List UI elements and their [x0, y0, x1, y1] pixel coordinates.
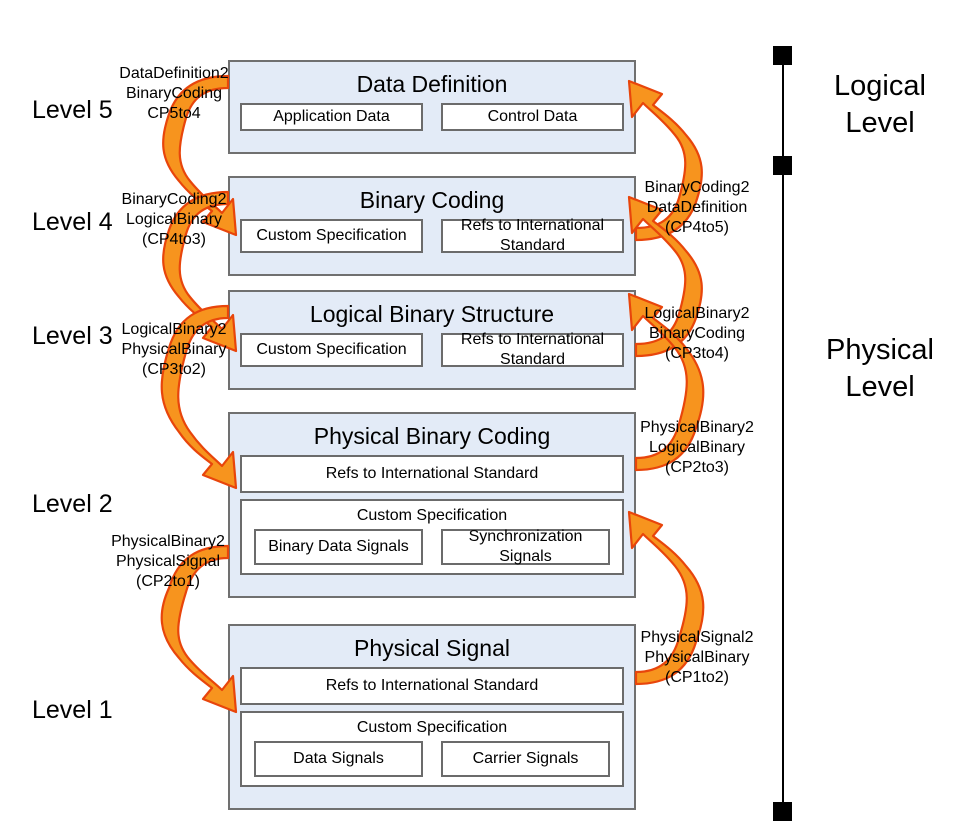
level1-carrier-signals-text: Carrier Signals	[473, 749, 579, 769]
cp2to3-line1: PhysicalBinary2	[632, 418, 762, 438]
level2-binary-data-signals-text: Binary Data Signals	[268, 537, 409, 557]
level-label-2: Level 2	[32, 490, 113, 519]
bracket-marker-top	[773, 46, 792, 65]
level3-title: Logical Binary Structure	[230, 292, 634, 333]
level-label-4: Level 4	[32, 208, 113, 237]
bracket-label-logical-level: Logical Level	[810, 68, 950, 142]
level3-child-refs-to-international-standard[interactable]: Refs to International Standard	[441, 333, 624, 367]
connector-label-cp2to1: PhysicalBinary2 PhysicalSignal (CP2to1)	[100, 532, 236, 592]
level1-child-carrier-signals[interactable]: Carrier Signals	[441, 741, 610, 777]
connector-label-cp5to4: DataDefinition2 BinaryCoding CP5to4	[110, 64, 238, 124]
level5-box[interactable]: Data Definition Application Data Control…	[228, 60, 636, 154]
cp1to2-line3: (CP1to2)	[632, 668, 762, 688]
cp4to3-line2: LogicalBinary	[110, 210, 238, 230]
level2-box[interactable]: Physical Binary Coding Refs to Internati…	[228, 412, 636, 598]
connector-label-cp3to2: LogicalBinary2 PhysicalBinary (CP3to2)	[110, 320, 238, 380]
cp5to4-line2: BinaryCoding	[110, 84, 238, 104]
level2-child-binary-data-signals[interactable]: Binary Data Signals	[254, 529, 423, 565]
diagram-canvas: .arw{fill:#F7941E;stroke:#E8450B;stroke-…	[0, 0, 960, 832]
cp5to4-line3: CP5to4	[110, 104, 238, 124]
level-label-1: Level 1	[32, 696, 113, 725]
cp3to4-line1: LogicalBinary2	[632, 304, 762, 324]
bracket-marker-middle	[773, 156, 792, 175]
level1-box[interactable]: Physical Signal Refs to International St…	[228, 624, 636, 810]
level1-data-signals-text: Data Signals	[293, 749, 384, 769]
level2-custom-spec-title: Custom Specification	[242, 505, 622, 529]
cp4to5-line2: DataDefinition	[632, 198, 762, 218]
level4-custom-spec-text: Custom Specification	[256, 226, 406, 246]
cp2to3-line2: LogicalBinary	[632, 438, 762, 458]
cp3to4-line2: BinaryCoding	[632, 324, 762, 344]
cp3to2-line3: (CP3to2)	[110, 360, 238, 380]
level-label-5: Level 5	[32, 96, 113, 125]
connector-label-cp2to3: PhysicalBinary2 LogicalBinary (CP2to3)	[632, 418, 762, 478]
level1-refs-to-international-standard[interactable]: Refs to International Standard	[240, 667, 624, 705]
cp5to4-line1: DataDefinition2	[110, 64, 238, 84]
level3-child-custom-specification[interactable]: Custom Specification	[240, 333, 423, 367]
level4-child-custom-specification[interactable]: Custom Specification	[240, 219, 423, 253]
cp1to2-line1: PhysicalSignal2	[632, 628, 762, 648]
connector-label-cp4to3: BinaryCoding2 LogicalBinary (CP4to3)	[110, 190, 238, 250]
cp2to3-line3: (CP2to3)	[632, 458, 762, 478]
level5-title: Data Definition	[230, 62, 634, 103]
bracket-physical-line2: Level	[810, 369, 950, 406]
bracket-label-physical-level: Physical Level	[810, 332, 950, 406]
level5-child-control-data[interactable]: Control Data	[441, 103, 624, 131]
level2-title: Physical Binary Coding	[230, 414, 634, 455]
level1-title: Physical Signal	[230, 626, 634, 667]
cp1to2-line2: PhysicalBinary	[632, 648, 762, 668]
cp2to1-line2: PhysicalSignal	[100, 552, 236, 572]
cp4to5-line3: (CP4to5)	[632, 218, 762, 238]
cp3to2-line1: LogicalBinary2	[110, 320, 238, 340]
level4-box[interactable]: Binary Coding Custom Specification Refs …	[228, 176, 636, 276]
cp4to3-line1: BinaryCoding2	[110, 190, 238, 210]
cp2to1-line1: PhysicalBinary2	[100, 532, 236, 552]
level3-refs-text: Refs to International Standard	[443, 330, 622, 370]
level2-child-synchronization-signals[interactable]: Synchronization Signals	[441, 529, 610, 565]
level2-custom-specification-group[interactable]: Custom Specification Binary Data Signals…	[240, 499, 624, 575]
level3-box[interactable]: Logical Binary Structure Custom Specific…	[228, 290, 636, 390]
level2-refs-to-international-standard[interactable]: Refs to International Standard	[240, 455, 624, 493]
cp3to2-line2: PhysicalBinary	[110, 340, 238, 360]
cp2to1-line3: (CP2to1)	[100, 572, 236, 592]
bracket-marker-bottom	[773, 802, 792, 821]
level4-refs-text: Refs to International Standard	[443, 216, 622, 256]
connector-label-cp4to5: BinaryCoding2 DataDefinition (CP4to5)	[632, 178, 762, 238]
level1-child-data-signals[interactable]: Data Signals	[254, 741, 423, 777]
level-label-3: Level 3	[32, 322, 113, 351]
cp4to5-line1: BinaryCoding2	[632, 178, 762, 198]
bracket-logical-line2: Level	[810, 105, 950, 142]
level4-title: Binary Coding	[230, 178, 634, 219]
level1-custom-spec-title: Custom Specification	[242, 717, 622, 741]
level2-synchronization-signals-text: Synchronization Signals	[443, 527, 608, 567]
level1-custom-specification-group[interactable]: Custom Specification Data Signals Carrie…	[240, 711, 624, 787]
level5-child-application-data[interactable]: Application Data	[240, 103, 423, 131]
level4-child-refs-to-international-standard[interactable]: Refs to International Standard	[441, 219, 624, 253]
connector-label-cp1to2: PhysicalSignal2 PhysicalBinary (CP1to2)	[632, 628, 762, 688]
level3-custom-spec-text: Custom Specification	[256, 340, 406, 360]
connector-label-cp3to4: LogicalBinary2 BinaryCoding (CP3to4)	[632, 304, 762, 364]
cp4to3-line3: (CP4to3)	[110, 230, 238, 250]
bracket-logical-line1: Logical	[810, 68, 950, 105]
bracket-physical-line1: Physical	[810, 332, 950, 369]
cp3to4-line3: (CP3to4)	[632, 344, 762, 364]
